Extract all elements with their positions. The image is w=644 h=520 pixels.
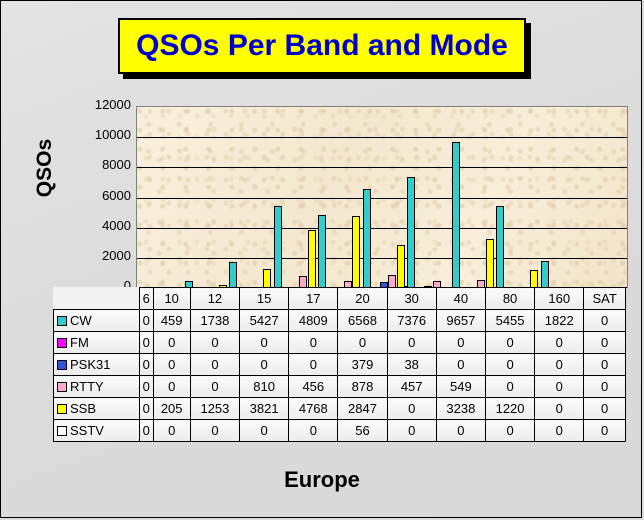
table-cell: 0 — [436, 420, 485, 442]
bar-group — [182, 107, 227, 288]
table-row: RTTY000810456878457549000 — [54, 376, 626, 398]
table-cell: 0 — [535, 332, 584, 354]
table-cell: 3238 — [436, 398, 485, 420]
bar-group — [449, 107, 494, 288]
table-cell: 0 — [140, 376, 154, 398]
bar-group — [226, 107, 271, 288]
table-cell: 0 — [240, 420, 289, 442]
table-column-header: 6 — [140, 288, 154, 310]
legend-swatch-icon — [57, 316, 67, 326]
table-cell: 0 — [535, 376, 584, 398]
table-cell: 549 — [436, 376, 485, 398]
legend-swatch-icon — [57, 360, 67, 370]
table-cell: 0 — [338, 332, 387, 354]
table-cell: 0 — [289, 332, 338, 354]
bar-cw-20 — [363, 189, 371, 288]
table-cell: 0 — [485, 354, 534, 376]
table-cell: 9657 — [436, 310, 485, 332]
legend-series-label: SSB — [70, 401, 96, 416]
table-cell: 0 — [190, 332, 239, 354]
table-cell: 0 — [289, 354, 338, 376]
y-tick-label: 8000 — [53, 159, 131, 171]
table-cell: 379 — [338, 354, 387, 376]
table-cell: 0 — [485, 420, 534, 442]
table-cell: 0 — [190, 376, 239, 398]
table-cell: 878 — [338, 376, 387, 398]
legend-entry-ssb: SSB — [54, 398, 140, 420]
table-cell: 459 — [153, 310, 190, 332]
bar-group — [582, 107, 627, 288]
table-column-header: 20 — [338, 288, 387, 310]
legend-entry-psk31: PSK31 — [54, 354, 140, 376]
table-row: SSB0205125338214768284703238122000 — [54, 398, 626, 420]
bar-group — [404, 107, 449, 288]
table-cell: 0 — [240, 332, 289, 354]
bar-group — [137, 107, 182, 288]
bar-rtty-20 — [388, 275, 396, 288]
bar-cw-40 — [452, 142, 460, 288]
legend-series-label: RTTY — [70, 379, 104, 394]
x-axis-title: Europe — [1, 467, 642, 493]
table-cell: 0 — [485, 376, 534, 398]
plot-area — [136, 106, 628, 288]
table-cell: 0 — [485, 332, 534, 354]
bar-cw-30 — [407, 177, 415, 288]
table-cell: 0 — [387, 398, 436, 420]
y-tick-label: 4000 — [53, 220, 131, 232]
table-body: CW0459173854274809656873769657545518220F… — [54, 310, 626, 442]
legend-series-label: FM — [70, 335, 89, 350]
bar-group — [493, 107, 538, 288]
table-cell: 7376 — [387, 310, 436, 332]
table-cell: 0 — [436, 332, 485, 354]
table-cell: 1220 — [485, 398, 534, 420]
table-corner-cell — [54, 288, 140, 310]
table-cell: 0 — [140, 310, 154, 332]
legend-swatch-icon — [57, 382, 67, 392]
table-cell: 0 — [535, 420, 584, 442]
table-cell: 0 — [289, 420, 338, 442]
table-cell: 0 — [140, 332, 154, 354]
table-cell: 0 — [535, 354, 584, 376]
table-cell: 1822 — [535, 310, 584, 332]
table-cell: 0 — [153, 354, 190, 376]
table-cell: 5427 — [240, 310, 289, 332]
table-cell: 5455 — [485, 310, 534, 332]
table-cell: 0 — [535, 398, 584, 420]
table-row: CW0459173854274809656873769657545518220 — [54, 310, 626, 332]
chart-container: QSOs Per Band and Mode QSOs 120001000080… — [0, 0, 642, 518]
bar-cw-12 — [229, 262, 237, 288]
legend-swatch-icon — [57, 338, 67, 348]
table-column-header: SAT — [584, 288, 626, 310]
table-cell: 457 — [387, 376, 436, 398]
legend-entry-fm: FM — [54, 332, 140, 354]
table-header-row: 61012151720304080160SAT — [54, 288, 626, 310]
table-cell: 0 — [584, 376, 626, 398]
bar-cw-80 — [496, 206, 504, 288]
legend-swatch-icon — [57, 404, 67, 414]
bar-group — [271, 107, 316, 288]
table-column-header: 30 — [387, 288, 436, 310]
legend-entry-rtty: RTTY — [54, 376, 140, 398]
table-cell: 810 — [240, 376, 289, 398]
table-cell: 0 — [153, 420, 190, 442]
chart-title-box: QSOs Per Band and Mode — [118, 18, 526, 74]
bar-cw-15 — [274, 206, 282, 288]
bar-cw-17 — [318, 215, 326, 288]
y-tick-label: 2000 — [53, 250, 131, 262]
table-cell: 0 — [584, 332, 626, 354]
table-cell: 0 — [140, 398, 154, 420]
table-cell: 3821 — [240, 398, 289, 420]
bar-group — [315, 107, 360, 288]
y-tick-label: 12000 — [53, 99, 131, 111]
table-cell: 0 — [240, 354, 289, 376]
table-cell: 0 — [436, 354, 485, 376]
y-tick-label: 10000 — [53, 129, 131, 141]
table-cell: 456 — [289, 376, 338, 398]
table-cell: 0 — [584, 310, 626, 332]
chart-title: QSOs Per Band and Mode — [136, 29, 508, 63]
bar-group — [538, 107, 583, 288]
table-column-header: 17 — [289, 288, 338, 310]
table-cell: 4809 — [289, 310, 338, 332]
legend-swatch-icon — [57, 426, 67, 436]
table-cell: 0 — [190, 420, 239, 442]
table-cell: 1253 — [190, 398, 239, 420]
table-column-header: 160 — [535, 288, 584, 310]
data-table: 61012151720304080160SAT CW04591738542748… — [53, 287, 626, 442]
table-column-header: 40 — [436, 288, 485, 310]
table-row: PSK3100000379380000 — [54, 354, 626, 376]
table-cell: 0 — [153, 376, 190, 398]
bar-cw-160 — [541, 261, 549, 288]
table-cell: 0 — [584, 398, 626, 420]
table-cell: 0 — [387, 420, 436, 442]
table-row: FM00000000000 — [54, 332, 626, 354]
table-column-header: 10 — [153, 288, 190, 310]
table-cell: 2847 — [338, 398, 387, 420]
legend-series-label: SSTV — [70, 423, 104, 438]
table-cell: 0 — [140, 354, 154, 376]
table-cell: 0 — [584, 420, 626, 442]
legend-series-label: PSK31 — [70, 357, 110, 372]
table-cell: 38 — [387, 354, 436, 376]
table-cell: 205 — [153, 398, 190, 420]
y-tick-label: 6000 — [53, 190, 131, 202]
table-cell: 0 — [153, 332, 190, 354]
bar-group — [360, 107, 405, 288]
table-cell: 56 — [338, 420, 387, 442]
table-cell: 6568 — [338, 310, 387, 332]
table-column-header: 12 — [190, 288, 239, 310]
table-row: SSTV000005600000 — [54, 420, 626, 442]
legend-series-label: CW — [70, 313, 92, 328]
table-cell: 0 — [387, 332, 436, 354]
table-column-header: 15 — [240, 288, 289, 310]
legend-entry-sstv: SSTV — [54, 420, 140, 442]
table-cell: 4768 — [289, 398, 338, 420]
table-cell: 0 — [140, 420, 154, 442]
table-column-header: 80 — [485, 288, 534, 310]
table-cell: 0 — [584, 354, 626, 376]
legend-entry-cw: CW — [54, 310, 140, 332]
table-cell: 0 — [190, 354, 239, 376]
table-cell: 1738 — [190, 310, 239, 332]
